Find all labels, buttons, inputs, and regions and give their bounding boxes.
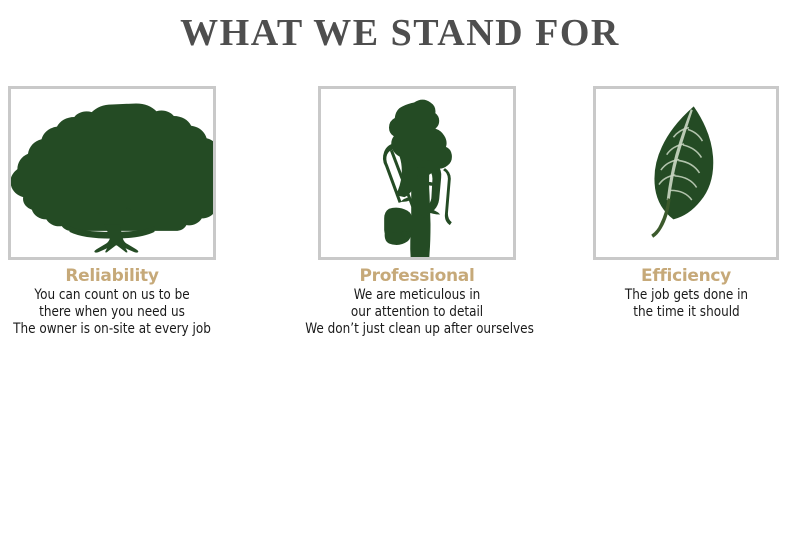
page-title: WHAT WE STAND FOR xyxy=(0,10,800,56)
image-frame-efficiency xyxy=(593,86,779,260)
body-line: there when you need us xyxy=(9,304,215,321)
body-line: We don’t just clean up after ourselves xyxy=(305,321,529,338)
image-frame-professional xyxy=(318,86,516,260)
tree-climber-silhouette-icon xyxy=(321,89,513,257)
column-body-efficiency: The job gets done in the time it should xyxy=(594,287,779,321)
column-heading-reliability: Reliability xyxy=(8,266,216,286)
body-line: our attention to detail xyxy=(305,304,529,321)
column-body-professional: We are meticulous in our attention to de… xyxy=(305,287,529,338)
body-line: We are meticulous in xyxy=(305,287,529,304)
body-line: You can count on us to be xyxy=(9,287,215,304)
body-line: The job gets done in xyxy=(594,287,779,304)
tree-silhouette-icon xyxy=(11,89,213,257)
column-body-reliability: You can count on us to be there when you… xyxy=(9,287,215,338)
image-frame-reliability xyxy=(8,86,216,260)
values-columns: Reliability You can count on us to be th… xyxy=(0,86,800,386)
value-column-efficiency: Efficiency The job gets done in the time… xyxy=(593,86,779,321)
body-line: the time it should xyxy=(594,304,779,321)
body-line: The owner is on-site at every job xyxy=(9,321,215,338)
column-heading-efficiency: Efficiency xyxy=(593,266,779,286)
value-column-professional: Professional We are meticulous in our at… xyxy=(318,86,516,338)
column-heading-professional: Professional xyxy=(318,266,516,286)
value-column-reliability: Reliability You can count on us to be th… xyxy=(8,86,216,338)
leaf-icon xyxy=(596,89,776,257)
